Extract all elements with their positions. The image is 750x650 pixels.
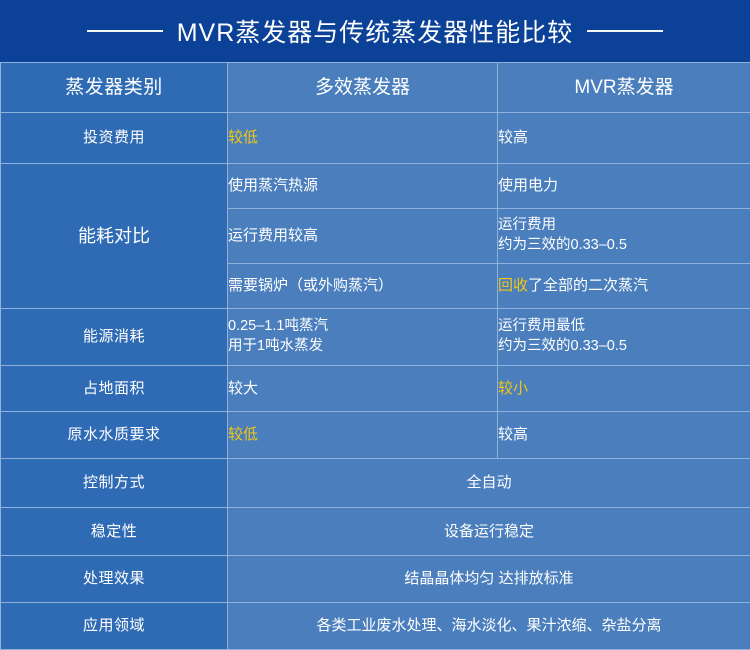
comparison-table: 蒸发器类别 多效蒸发器 MVR蒸发器 投资费用 较低 较高 能耗对比 使用蒸汽热… [0, 62, 750, 650]
table-row: 处理效果 结晶晶体均匀 达排放标准 [1, 556, 750, 603]
row-label-control-mode: 控制方式 [1, 459, 228, 508]
cell-line-2: 约为三效的0.33–0.5 [498, 236, 750, 256]
cell-energy-comparison-mvr-1: 使用电力 [498, 164, 750, 209]
cell-investment-cost-multi-effect: 较低 [228, 113, 498, 164]
table-row: 能耗对比 使用蒸汽热源 使用电力 [1, 164, 750, 209]
cell-energy-consumption-mvr: 运行费用最低 约为三效的0.33–0.5 [498, 309, 750, 366]
table-row: 稳定性 设备运行稳定 [1, 508, 750, 556]
highlight-value: 较低 [228, 426, 258, 443]
decorative-rule-left-icon [87, 30, 163, 32]
header-cell-mvr: MVR蒸发器 [498, 63, 750, 113]
row-label-application-fields: 应用领域 [1, 603, 228, 650]
header-cell-multi-effect: 多效蒸发器 [228, 63, 498, 113]
row-label-energy-consumption: 能源消耗 [1, 309, 228, 366]
cell-text-rest: 了全部的二次蒸汽 [528, 277, 648, 294]
cell-treatment-effect-value: 结晶晶体均匀 达排放标准 [228, 556, 750, 603]
cell-energy-comparison-mvr-3: 回收了全部的二次蒸汽 [498, 264, 750, 309]
cell-line-2: 用于1吨水蒸发 [228, 337, 497, 357]
decorative-rule-right-icon [587, 30, 663, 32]
cell-raw-water-quality-multi-effect: 较低 [228, 412, 498, 459]
table-row: 能源消耗 0.25–1.1吨蒸汽 用于1吨水蒸发 运行费用最低 约为三效的0.3… [1, 309, 750, 366]
cell-energy-comparison-multi-effect-2: 运行费用较高 [228, 209, 498, 264]
row-label-investment-cost: 投资费用 [1, 113, 228, 164]
row-label-energy-comparison: 能耗对比 [1, 164, 228, 309]
cell-investment-cost-mvr: 较高 [498, 113, 750, 164]
cell-raw-water-quality-mvr: 较高 [498, 412, 750, 459]
banner-header: MVR蒸发器与传统蒸发器性能比较 [0, 0, 750, 62]
cell-footprint-multi-effect: 较大 [228, 366, 498, 412]
cell-energy-comparison-multi-effect-1: 使用蒸汽热源 [228, 164, 498, 209]
table-row: 投资费用 较低 较高 [1, 113, 750, 164]
row-label-footprint: 占地面积 [1, 366, 228, 412]
table-row: 控制方式 全自动 [1, 459, 750, 508]
cell-line-1: 0.25–1.1吨蒸汽 [228, 317, 497, 337]
page-title: MVR蒸发器与传统蒸发器性能比较 [177, 13, 574, 49]
cell-energy-consumption-multi-effect: 0.25–1.1吨蒸汽 用于1吨水蒸发 [228, 309, 498, 366]
table-row: 应用领域 各类工业废水处理、海水淡化、果汁浓缩、杂盐分离 [1, 603, 750, 650]
row-label-treatment-effect: 处理效果 [1, 556, 228, 603]
cell-footprint-mvr: 较小 [498, 366, 750, 412]
table-row: 占地面积 较大 较小 [1, 366, 750, 412]
row-label-stability: 稳定性 [1, 508, 228, 556]
highlight-value: 较低 [228, 129, 258, 146]
cell-line-1: 运行费用最低 [498, 317, 750, 337]
highlight-value: 回收 [498, 277, 528, 294]
highlight-value: 较小 [498, 380, 528, 397]
comparison-infographic: MVR蒸发器与传统蒸发器性能比较 蒸发器类别 多效蒸发器 MVR蒸发器 投资费用… [0, 0, 750, 649]
header-cell-category: 蒸发器类别 [1, 63, 228, 113]
cell-line-2: 约为三效的0.33–0.5 [498, 337, 750, 357]
cell-stability-value: 设备运行稳定 [228, 508, 750, 556]
cell-energy-comparison-multi-effect-3: 需要锅炉（或外购蒸汽） [228, 264, 498, 309]
cell-application-fields-value: 各类工业废水处理、海水淡化、果汁浓缩、杂盐分离 [228, 603, 750, 650]
cell-energy-comparison-mvr-2: 运行费用 约为三效的0.33–0.5 [498, 209, 750, 264]
cell-line-1: 运行费用 [498, 216, 750, 236]
cell-control-mode-value: 全自动 [228, 459, 750, 508]
table-row: 原水水质要求 较低 较高 [1, 412, 750, 459]
table-header-row: 蒸发器类别 多效蒸发器 MVR蒸发器 [1, 63, 750, 113]
row-label-raw-water-quality: 原水水质要求 [1, 412, 228, 459]
